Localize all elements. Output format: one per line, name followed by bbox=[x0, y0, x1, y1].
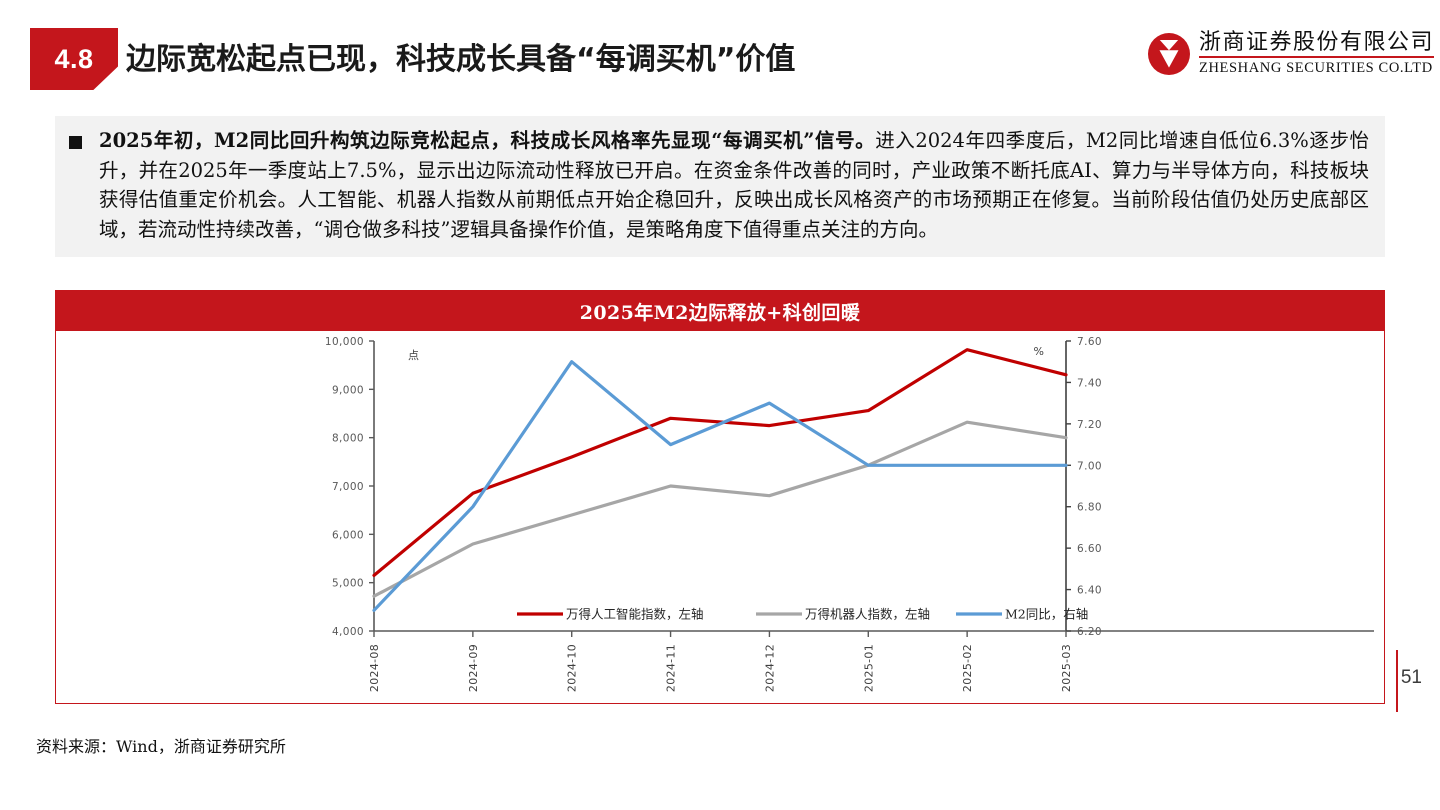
page-number-rule bbox=[1396, 650, 1398, 712]
x-axis-tick-label: 2025-01 bbox=[862, 644, 875, 692]
chart-plot-area: 4,0005,0006,0007,0008,0009,00010,000点6.2… bbox=[56, 331, 1384, 704]
company-logo: 浙商证券股份有限公司 ZHESHANG SECURITIES CO.LTD bbox=[1148, 30, 1434, 77]
x-axis-tick-label: 2024-12 bbox=[763, 644, 776, 692]
right-axis-unit: % bbox=[1034, 345, 1044, 358]
right-axis-tick-label: 7.40 bbox=[1077, 377, 1102, 389]
summary-paragraph-block: 2025年初，M2同比回升构筑边际竞松起点，科技成长风格率先显现“每调买机”信号… bbox=[55, 116, 1385, 257]
page-title: 边际宽松起点已现，科技成长具备“每调买机”价值 bbox=[126, 34, 795, 78]
legend-label: 万得机器人指数，左轴 bbox=[805, 607, 930, 622]
x-axis-tick-label: 2024-10 bbox=[566, 644, 579, 692]
left-axis-tick-label: 5,000 bbox=[332, 578, 364, 590]
zheshang-logo-icon bbox=[1148, 33, 1190, 75]
left-axis-tick-label: 8,000 bbox=[332, 433, 364, 445]
right-axis-tick-label: 6.40 bbox=[1077, 585, 1102, 597]
bullet-square-icon bbox=[69, 136, 82, 149]
chart-title: 2025年M2边际释放+科创回暖 bbox=[56, 291, 1384, 331]
right-axis-tick-label: 7.60 bbox=[1077, 336, 1102, 348]
right-axis-tick-label: 7.00 bbox=[1077, 460, 1102, 472]
left-axis-unit: 点 bbox=[408, 349, 419, 362]
x-axis-tick-label: 2025-03 bbox=[1060, 644, 1073, 692]
chart-panel: 2025年M2边际释放+科创回暖 4,0005,0006,0007,0008,0… bbox=[55, 290, 1385, 704]
bullet-row: 2025年初，M2同比回升构筑边际竞松起点，科技成长风格率先显现“每调买机”信号… bbox=[55, 126, 1385, 245]
left-axis-tick-label: 4,000 bbox=[332, 626, 364, 638]
series-line bbox=[374, 362, 1066, 611]
logo-company-en: ZHESHANG SECURITIES CO.LTD bbox=[1199, 60, 1434, 77]
line-chart-svg: 4,0005,0006,0007,0008,0009,00010,000点6.2… bbox=[56, 331, 1384, 704]
x-axis-tick-label: 2024-11 bbox=[665, 644, 678, 692]
logo-company-cn: 浙商证券股份有限公司 bbox=[1199, 30, 1434, 58]
page-number: 51 bbox=[1401, 667, 1422, 689]
source-note: 资料来源：Wind，浙商证券研究所 bbox=[36, 733, 286, 757]
right-axis-tick-label: 6.20 bbox=[1077, 626, 1102, 638]
left-axis-tick-label: 7,000 bbox=[332, 481, 364, 493]
logo-text-block: 浙商证券股份有限公司 ZHESHANG SECURITIES CO.LTD bbox=[1199, 30, 1434, 77]
x-axis-tick-label: 2024-08 bbox=[368, 644, 381, 692]
left-axis-tick-label: 9,000 bbox=[332, 384, 364, 396]
right-axis-tick-label: 6.60 bbox=[1077, 543, 1102, 555]
section-number-badge: 4.8 bbox=[30, 28, 118, 90]
right-axis-tick-label: 6.80 bbox=[1077, 502, 1102, 514]
x-axis-tick-label: 2024-09 bbox=[467, 644, 480, 692]
legend-label: 万得人工智能指数，左轴 bbox=[566, 607, 704, 622]
slide-header: 4.8 边际宽松起点已现，科技成长具备“每调买机”价值 浙商证券股份有限公司 Z… bbox=[0, 0, 1440, 112]
left-axis-tick-label: 6,000 bbox=[332, 529, 364, 541]
paragraph-text: 2025年初，M2同比回升构筑边际竞松起点，科技成长风格率先显现“每调买机”信号… bbox=[99, 126, 1369, 245]
right-axis-tick-label: 7.20 bbox=[1077, 419, 1102, 431]
legend-label: M2同比，右轴 bbox=[1005, 607, 1088, 622]
series-line bbox=[374, 422, 1066, 596]
left-axis-tick-label: 10,000 bbox=[325, 336, 364, 348]
x-axis-tick-label: 2025-02 bbox=[961, 644, 974, 692]
paragraph-lead: 2025年初，M2同比回升构筑边际竞松起点，科技成长风格率先显现“每调买机”信号… bbox=[99, 129, 875, 152]
